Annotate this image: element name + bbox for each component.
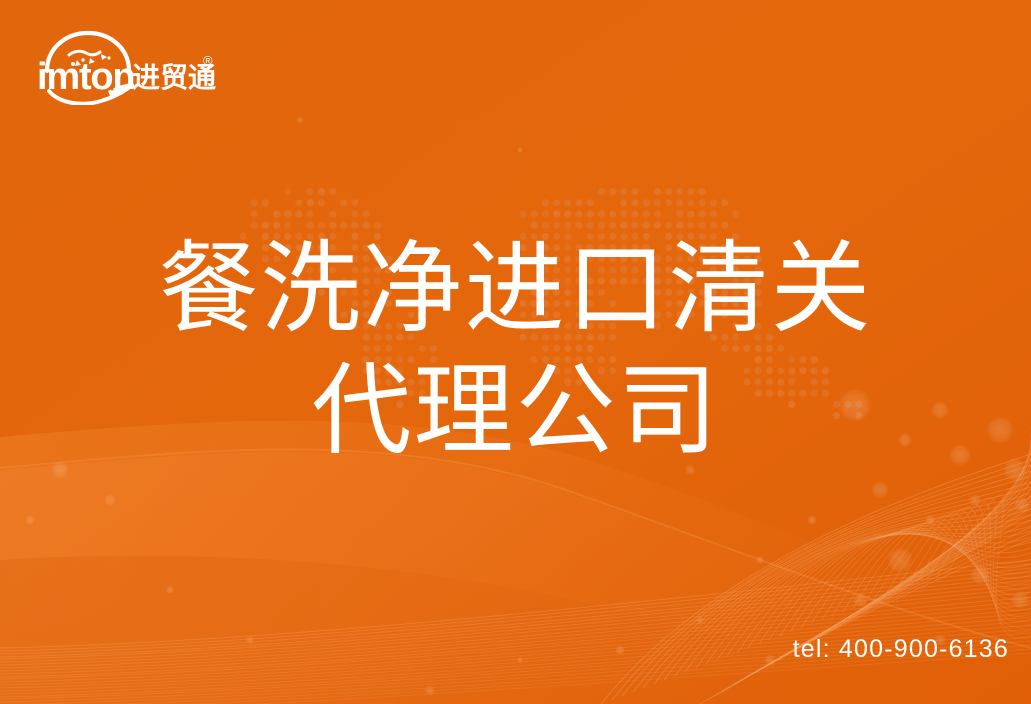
headline-block: 餐洗净进口清关 代理公司: [0, 228, 1031, 472]
telephone-text[interactable]: tel: 400-900-6136: [793, 634, 1009, 664]
headline-line-2: 代理公司: [0, 350, 1031, 472]
trademark-symbol: ®: [203, 53, 213, 68]
headline-line-1: 餐洗净进口清关: [0, 228, 1031, 350]
brand-logo[interactable]: imton 进贸通 ®: [33, 27, 233, 105]
promo-banner: imton 进贸通 ® 餐洗净进口清关 代理公司 tel: 400-900-61…: [0, 0, 1031, 704]
